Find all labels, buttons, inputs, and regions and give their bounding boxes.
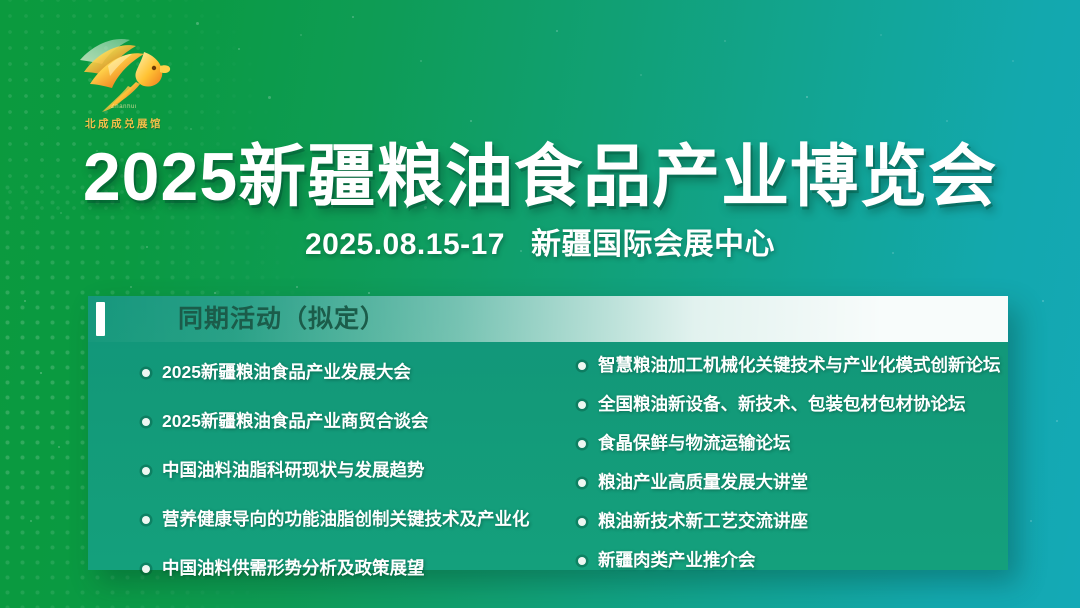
sparkle-dot: [58, 446, 60, 448]
side-event-item: 2025新疆粮油食品产业发展大会: [140, 354, 570, 391]
sparkle-dot: [214, 292, 216, 294]
side-event-item: 中国油料供需形势分析及政策展望: [140, 550, 570, 587]
poster-subheadline: 2025.08.15-17新疆国际会展中心: [0, 224, 1080, 266]
side-event-item: 食晶保鲜与物流运输论坛: [576, 428, 1006, 459]
sparkle-dot: [946, 120, 948, 122]
sparkle-dot: [1042, 300, 1044, 302]
organizer-logo: Zhanhui 北成成兑展馆: [66, 24, 182, 140]
side-event-label: 食晶保鲜与物流运输论坛: [598, 433, 791, 453]
sparkle-dot: [268, 96, 271, 99]
side-event-label: 2025新疆粮油食品产业商贸合谈会: [162, 411, 428, 431]
poster-headline: 2025新疆粮油食品产业博览会: [0, 137, 1080, 217]
side-event-label: 新疆肉类产业推介会: [598, 550, 756, 570]
side-event-label: 智慧粮油加工机械化关键技术与产业化模式创新论坛: [598, 355, 1001, 375]
bullet-icon: [578, 557, 586, 565]
side-event-label: 全国粮油新设备、新技术、包装包材包材协论坛: [598, 394, 966, 414]
side-events-panel-header: 同期活动（拟定）: [88, 296, 1008, 342]
side-event-item: 中国油料油脂科研现状与发展趋势: [140, 452, 570, 489]
sparkle-dot: [190, 128, 192, 130]
bullet-icon: [142, 565, 150, 573]
side-event-label: 营养健康导向的功能油脂创制关键技术及产业化: [162, 509, 530, 529]
bullet-icon: [578, 518, 586, 526]
side-event-label: 粮油新技术新工艺交流讲座: [598, 511, 808, 531]
side-events-right-column: 智慧粮油加工机械化关键技术与产业化模式创新论坛全国粮油新设备、新技术、包装包材包…: [576, 342, 1006, 576]
bullet-icon: [142, 418, 150, 426]
sparkle-dot: [30, 520, 32, 522]
side-event-item: 全国粮油新设备、新技术、包装包材包材协论坛: [576, 389, 1006, 420]
sparkle-dot: [130, 286, 132, 288]
logo-en-name: Zhanhui: [66, 104, 182, 110]
side-events-left-column: 2025新疆粮油食品产业发展大会2025新疆粮油食品产业商贸合谈会中国油料油脂科…: [140, 342, 570, 587]
sparkle-dot: [880, 34, 882, 36]
sparkle-dot: [196, 22, 199, 25]
side-event-item: 粮油产业高质量发展大讲堂: [576, 467, 1006, 498]
side-events-body: 2025新疆粮油食品产业发展大会2025新疆粮油食品产业商贸合谈会中国油料油脂科…: [88, 342, 1008, 570]
side-event-item: 粮油新技术新工艺交流讲座: [576, 506, 1006, 537]
sparkle-dot: [1056, 420, 1058, 422]
side-event-label: 中国油料供需形势分析及政策展望: [162, 558, 425, 578]
sparkle-dot: [420, 60, 422, 62]
sparkle-dot: [806, 96, 808, 98]
side-event-item: 智慧粮油加工机械化关键技术与产业化模式创新论坛: [576, 350, 1006, 381]
side-event-label: 粮油产业高质量发展大讲堂: [598, 472, 808, 492]
bullet-icon: [142, 467, 150, 475]
sparkle-dot: [368, 292, 370, 294]
sparkle-dot: [556, 30, 558, 32]
sparkle-dot: [1012, 60, 1014, 62]
side-event-label: 2025新疆粮油食品产业发展大会: [162, 362, 411, 382]
bullet-icon: [142, 516, 150, 524]
sparkle-dot: [724, 40, 726, 42]
side-event-label: 中国油料油脂科研现状与发展趋势: [162, 460, 425, 480]
sparkle-dot: [640, 74, 642, 76]
sparkle-dot: [40, 372, 42, 374]
bullet-icon: [578, 440, 586, 448]
phoenix-bird-icon: [74, 26, 172, 114]
side-event-item: 营养健康导向的功能油脂创制关键技术及产业化: [140, 501, 570, 538]
sparkle-dot: [296, 286, 298, 288]
side-event-item: 2025新疆粮油食品产业商贸合谈会: [140, 403, 570, 440]
poster-canvas: Zhanhui 北成成兑展馆 2025新疆粮油食品产业博览会 2025.08.1…: [0, 0, 1080, 608]
event-dates: 2025.08.15-17: [305, 228, 505, 261]
sparkle-dot: [1030, 520, 1032, 522]
side-event-item: 新疆肉类产业推介会: [576, 545, 1006, 576]
bullet-icon: [578, 479, 586, 487]
bullet-icon: [578, 401, 586, 409]
bullet-icon: [578, 362, 586, 370]
sparkle-dot: [238, 48, 240, 50]
side-events-title: 同期活动（拟定）: [178, 296, 386, 342]
header-accent-bar: [96, 302, 105, 336]
bullet-icon: [142, 369, 150, 377]
logo-cn-name: 北成成兑展馆: [66, 116, 182, 131]
sparkle-dot: [300, 34, 302, 36]
sparkle-dot: [470, 120, 472, 122]
sparkle-dot: [352, 16, 354, 18]
sparkle-dot: [24, 300, 26, 302]
event-venue: 新疆国际会展中心: [531, 228, 775, 261]
side-events-panel: 同期活动（拟定） 2025新疆粮油食品产业发展大会2025新疆粮油食品产业商贸合…: [88, 296, 1008, 570]
